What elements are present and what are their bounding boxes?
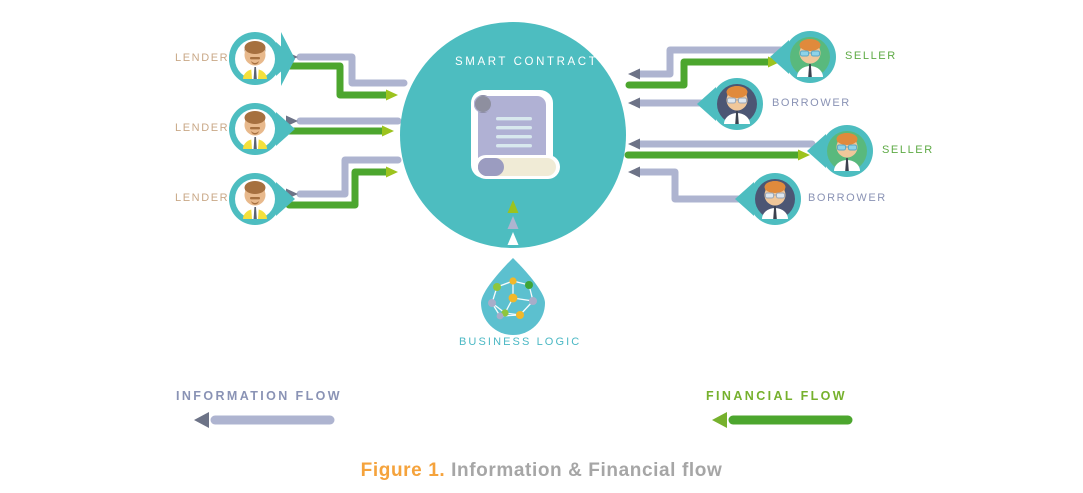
flow-lines-left bbox=[286, 52, 404, 206]
figure-caption: Figure 1. Information & Financial flow bbox=[0, 460, 1083, 482]
business-logic-label: BUSINESS LOGIC bbox=[459, 336, 581, 348]
legend-financial-swatch bbox=[712, 412, 848, 428]
flow-diagram bbox=[0, 0, 1083, 493]
seller-avatar-icon-2[interactable] bbox=[807, 125, 873, 177]
info-flow-borrower-2 bbox=[640, 172, 750, 199]
arrow-right-icon-financial-lender-2 bbox=[382, 126, 394, 137]
label-lender-2: LENDER bbox=[175, 122, 229, 134]
arrow-right-icon-financial-lender-3 bbox=[386, 167, 398, 178]
label-lender-3: LENDER bbox=[175, 192, 229, 204]
arrow-left-icon-info-borrower-2 bbox=[628, 167, 640, 178]
figure-information-financial-flow: LENDER LENDER LENDER SELLER BORROWER SEL… bbox=[0, 0, 1083, 493]
scroll-document-icon bbox=[471, 90, 560, 179]
legend-information-swatch bbox=[194, 412, 330, 428]
lender-avatar-icon-3[interactable] bbox=[229, 173, 295, 225]
figure-caption-prefix: Figure 1. bbox=[361, 460, 446, 481]
label-lender-1: LENDER bbox=[175, 52, 229, 64]
borrower-avatar-icon-1[interactable] bbox=[697, 78, 763, 130]
legend-financial-title: FINANCIAL FLOW bbox=[706, 389, 847, 403]
legend-information-title: INFORMATION FLOW bbox=[176, 389, 342, 403]
lender-avatar-icon-2[interactable] bbox=[229, 103, 295, 155]
arrow-left-icon-legend-info bbox=[194, 412, 209, 428]
borrower-avatar-icon-2[interactable] bbox=[735, 173, 801, 225]
financial-flow-lender-3 bbox=[289, 172, 386, 205]
label-seller-1: SELLER bbox=[845, 50, 897, 62]
arrow-right-icon-financial-lender-1 bbox=[386, 90, 398, 101]
info-flow-lender-1 bbox=[300, 57, 404, 83]
arrow-left-icon-info-seller-1 bbox=[628, 69, 640, 80]
smart-contract-title: SMART CONTRACT bbox=[455, 56, 598, 68]
seller-avatar-icon-1[interactable] bbox=[770, 31, 836, 83]
arrow-left-icon-legend-financial bbox=[712, 412, 727, 428]
figure-caption-text: Information & Financial flow bbox=[451, 460, 722, 481]
label-borrower-1: BORROWER bbox=[772, 97, 851, 109]
info-flow-lender-3 bbox=[300, 160, 398, 194]
droplet-network-icon bbox=[481, 258, 545, 335]
lender-avatar-icon-1[interactable] bbox=[229, 32, 295, 86]
arrow-left-icon-info-borrower-1 bbox=[628, 98, 640, 109]
label-seller-2: SELLER bbox=[882, 144, 934, 156]
arrow-left-icon-info-seller-2 bbox=[628, 139, 640, 150]
label-borrower-2: BORROWER bbox=[808, 192, 887, 204]
